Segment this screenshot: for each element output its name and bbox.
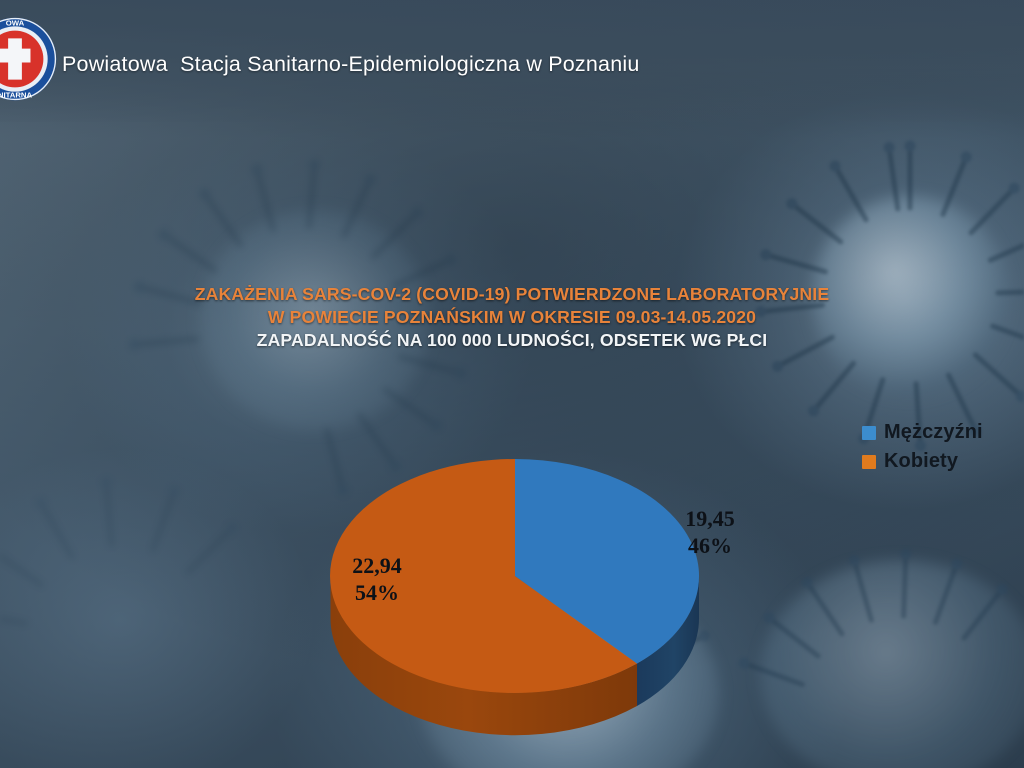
legend-swatch-women (862, 455, 876, 469)
chart-title-line-2: W POWIECIE POZNAŃSKIM W OKRESIE 09.03-14… (0, 306, 1024, 329)
chart-legend: Mężczyźni Kobiety (862, 418, 1024, 476)
legend-item-women[interactable]: Kobiety (862, 447, 1024, 476)
pie-label-women-percent: 54% (322, 579, 432, 606)
legend-item-men[interactable]: Mężczyźni (862, 418, 1024, 447)
sanitary-inspection-seal-icon: OWA NITARNA (0, 16, 58, 102)
pie-label-women: 22,94 54% (322, 552, 432, 606)
slide-canvas: OWA NITARNA Powiatowa Stacja Sanitarno-E… (0, 0, 1024, 768)
pie-label-men-value: 19,45 (655, 505, 765, 532)
chart-title-line-3: ZAPADALNOŚĆ NA 100 000 LUDNOŚCI, ODSETEK… (0, 329, 1024, 352)
pie-label-women-value: 22,94 (322, 552, 432, 579)
legend-label-men: Mężczyźni (884, 421, 983, 444)
chart-title-line-1: ZAKAŻENIA SARS-COV-2 (COVID-19) POTWIERD… (0, 283, 1024, 306)
legend-swatch-men (862, 426, 876, 440)
legend-label-women: Kobiety (884, 450, 958, 473)
pie-label-men: 19,45 46% (655, 505, 765, 559)
svg-text:OWA: OWA (6, 18, 25, 27)
svg-text:NITARNA: NITARNA (0, 91, 33, 100)
organization-title: Powiatowa Stacja Sanitarno-Epidemiologic… (62, 52, 640, 77)
pie-label-men-percent: 46% (655, 532, 765, 559)
chart-title: ZAKAŻENIA SARS-COV-2 (COVID-19) POTWIERD… (0, 283, 1024, 352)
